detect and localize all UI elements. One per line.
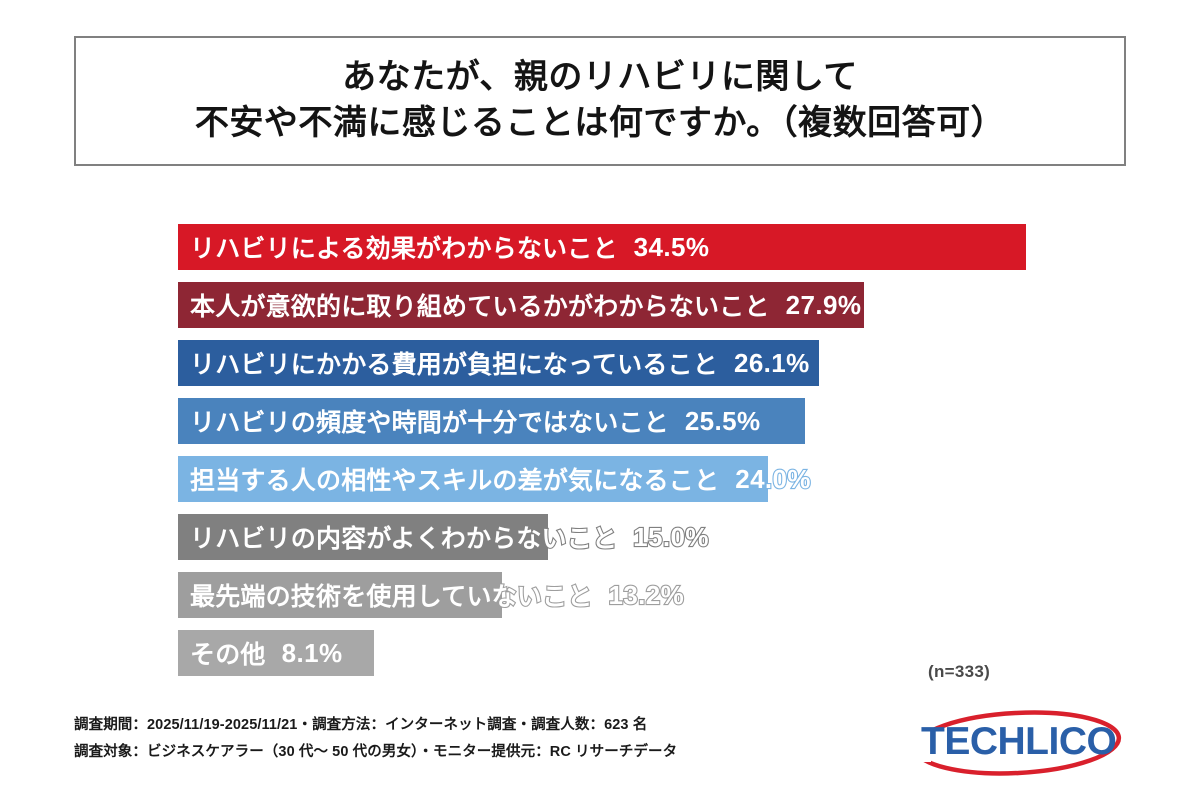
bar-category-label: リハビリの内容がよくわからないこと bbox=[190, 519, 617, 555]
bar-chart: リハビリによる効果がわからないこと34.5%本人が意欲的に取り組めているかがわか… bbox=[0, 218, 1200, 678]
title-line-2: 不安や不満に感じることは何ですか。（複数回答可） bbox=[195, 101, 1005, 147]
bar-row: 最先端の技術を使用していないこと13.2% bbox=[178, 572, 1178, 618]
bar-text: 最先端の技術を使用していないこと13.2% bbox=[190, 572, 684, 618]
title-line-1: あなたが、親のリハビリに関して bbox=[342, 55, 858, 101]
sample-size-annotation: (n=333) bbox=[928, 662, 990, 682]
bar-text: リハビリによる効果がわからないこと34.5% bbox=[190, 224, 709, 270]
bar-text: リハビリの頻度や時間が十分ではないこと25.5% bbox=[190, 398, 761, 444]
slide-canvas: あなたが、親のリハビリに関して 不安や不満に感じることは何ですか。（複数回答可）… bbox=[0, 0, 1200, 800]
bar-text: 本人が意欲的に取り組めているかがわからないこと27.9% bbox=[190, 282, 861, 328]
bar-value-label: 24.0% bbox=[735, 464, 811, 495]
bar-text: リハビリの内容がよくわからないこと15.0% bbox=[190, 514, 709, 560]
bar-row: リハビリの頻度や時間が十分ではないこと25.5% bbox=[178, 398, 1178, 444]
bar-value-label: 25.5% bbox=[685, 406, 761, 437]
bar-text: リハビリにかかる費用が負担になっていること26.1% bbox=[190, 340, 810, 386]
bar-row: 担当する人の相性やスキルの差が気になること24.0% bbox=[178, 456, 1178, 502]
bar-category-label: 本人が意欲的に取り組めているかがわからないこと bbox=[190, 287, 770, 323]
bar-text: 担当する人の相性やスキルの差が気になること24.0% bbox=[190, 456, 811, 502]
logo-wordmark: TECHLICO bbox=[921, 720, 1116, 764]
footnotes: 調査期間：2025/11/19-2025/11/21・調査方法：インターネット調… bbox=[74, 712, 774, 766]
bar-value-label: 34.5% bbox=[634, 232, 710, 263]
bar-row: リハビリによる効果がわからないこと34.5% bbox=[178, 224, 1178, 270]
bar-row: その他8.1% bbox=[178, 630, 1178, 676]
bar-category-label: リハビリの頻度や時間が十分ではないこと bbox=[190, 403, 669, 439]
bar-value-label: 27.9% bbox=[786, 290, 862, 321]
bar-category-label: リハビリによる効果がわからないこと bbox=[190, 229, 618, 265]
footnote-line-1: 調査期間：2025/11/19-2025/11/21・調査方法：インターネット調… bbox=[74, 712, 774, 739]
title-box: あなたが、親のリハビリに関して 不安や不満に感じることは何ですか。（複数回答可） bbox=[74, 36, 1126, 166]
bar-value-label: 8.1% bbox=[282, 638, 343, 669]
bar-row: リハビリにかかる費用が負担になっていること26.1% bbox=[178, 340, 1178, 386]
bar-text: その他8.1% bbox=[190, 630, 342, 676]
bar-category-label: リハビリにかかる費用が負担になっていること bbox=[190, 345, 718, 381]
bar-category-label: 担当する人の相性やスキルの差が気になること bbox=[190, 461, 719, 497]
bar-value-label: 26.1% bbox=[734, 348, 810, 379]
bar-value-label: 13.2% bbox=[608, 580, 684, 611]
footnote-line-2: 調査対象：ビジネスケアラー（30 代〜 50 代の男女）・モニター提供元：RC … bbox=[74, 739, 774, 766]
bar-category-label: その他 bbox=[190, 635, 266, 671]
bar-value-label: 15.0% bbox=[633, 522, 709, 553]
techlico-logo: TECHLICO bbox=[905, 702, 1135, 784]
bar-row: リハビリの内容がよくわからないこと15.0% bbox=[178, 514, 1178, 560]
bar-row: 本人が意欲的に取り組めているかがわからないこと27.9% bbox=[178, 282, 1178, 328]
bar-category-label: 最先端の技術を使用していないこと bbox=[190, 577, 592, 613]
